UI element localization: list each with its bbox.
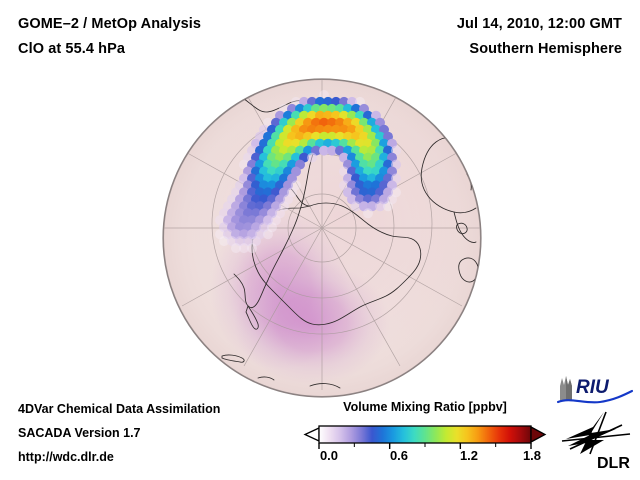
data-cell (263, 229, 273, 239)
dlr-wordmark: DLR (597, 455, 630, 472)
colorbar-tick-label-0: 0.0 (309, 448, 349, 463)
page-title: GOME–2 / MetOp Analysis (18, 16, 201, 32)
riu-logo: RIU (556, 373, 634, 407)
footer-line-method: 4DVar Chemical Data Assimilation (18, 402, 220, 416)
polar-stereographic-map (162, 78, 482, 398)
region-label: Southern Hemisphere (469, 41, 622, 57)
visualization-canvas: GOME–2 / MetOp Analysis ClO at 55.4 hPa … (0, 0, 640, 480)
data-cell (383, 201, 393, 211)
riu-tower-icon (560, 376, 572, 401)
data-cell (247, 243, 257, 253)
colorbar-ticks (319, 443, 531, 449)
colorbar-tick-label-2: 1.2 (449, 448, 489, 463)
colorbar-tick-label-3: 1.8 (512, 448, 552, 463)
colorbar-low-cap (305, 428, 319, 441)
data-cell (307, 153, 317, 163)
dlr-star-icon (562, 412, 630, 454)
dlr-logo: DLR (560, 410, 634, 472)
data-cell (363, 208, 373, 218)
footer-line-url[interactable]: http://wdc.dlr.de (18, 450, 114, 464)
page-subtitle: ClO at 55.4 hPa (18, 41, 125, 57)
colorbar-gradient (319, 426, 531, 443)
timestamp-label: Jul 14, 2010, 12:00 GMT (457, 16, 622, 32)
footer-line-version: SACADA Version 1.7 (18, 426, 141, 440)
colorbar-scale (300, 417, 550, 451)
colorbar-high-cap (531, 427, 545, 442)
colorbar: Volume Mixing Ratio [ppbv] 0.0 0.6 1.2 1… (300, 400, 550, 472)
colorbar-tick-label-1: 0.6 (379, 448, 419, 463)
colorbar-title: Volume Mixing Ratio [ppbv] (300, 400, 550, 414)
riu-wordmark: RIU (576, 377, 610, 398)
